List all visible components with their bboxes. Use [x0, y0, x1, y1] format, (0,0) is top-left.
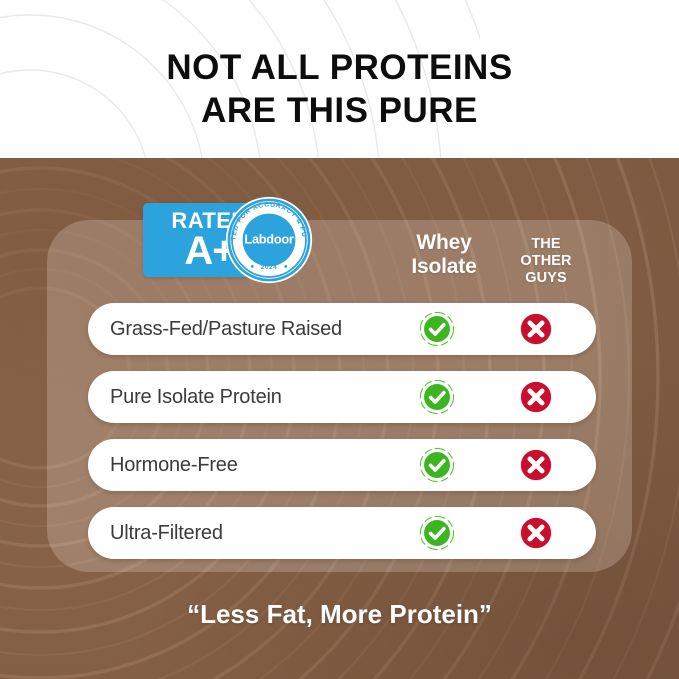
- check-circle-icon: [419, 311, 455, 347]
- promo-graphic: NOT ALL PROTEINS ARE THIS PURE: [0, 0, 679, 679]
- seal-year-text: 2024: [261, 264, 277, 271]
- cross-circle-icon: [519, 448, 553, 482]
- seal-brand-text: Labdoor: [244, 232, 293, 247]
- tagline: “Less Fat, More Protein”: [0, 599, 679, 630]
- row-feature-label: Hormone-Free: [110, 439, 238, 491]
- column-header-other-guys: THE OTHER GUYS: [500, 236, 592, 286]
- cross-circle-icon: [519, 516, 553, 550]
- row-feature-label: Ultra-Filtered: [110, 507, 223, 559]
- check-circle-icon: [419, 515, 455, 551]
- page-title: NOT ALL PROTEINS ARE THIS PURE: [0, 46, 679, 133]
- labdoor-badge: RATED A+ TESTED FOR ACCURACY & PURITY La…: [143, 196, 330, 284]
- table-row: Pure Isolate Protein: [88, 371, 596, 423]
- check-circle-icon: [419, 379, 455, 415]
- table-row: Hormone-Free: [88, 439, 596, 491]
- table-row: Grass-Fed/Pasture Raised: [88, 303, 596, 355]
- headline-line-2: ARE THIS PURE: [0, 89, 679, 132]
- column-header-other-line-3: GUYS: [500, 270, 592, 287]
- cross-circle-icon: [519, 312, 553, 346]
- check-circle-icon: [419, 447, 455, 483]
- row-feature-label: Grass-Fed/Pasture Raised: [110, 303, 342, 355]
- labdoor-seal-icon: TESTED FOR ACCURACY & PURITY Labdoor 202…: [225, 196, 313, 284]
- column-header-other-line-2: OTHER: [500, 253, 592, 270]
- header-band: NOT ALL PROTEINS ARE THIS PURE: [0, 0, 679, 158]
- headline-line-1: NOT ALL PROTEINS: [0, 46, 679, 89]
- column-header-other-line-1: THE: [500, 236, 592, 253]
- cross-circle-icon: [519, 380, 553, 414]
- column-header-whey-line-2: Isolate: [388, 255, 500, 279]
- row-feature-label: Pure Isolate Protein: [110, 371, 282, 423]
- table-row: Ultra-Filtered: [88, 507, 596, 559]
- column-header-whey-line-1: Whey: [388, 231, 500, 255]
- column-header-whey-isolate: Whey Isolate: [388, 231, 500, 279]
